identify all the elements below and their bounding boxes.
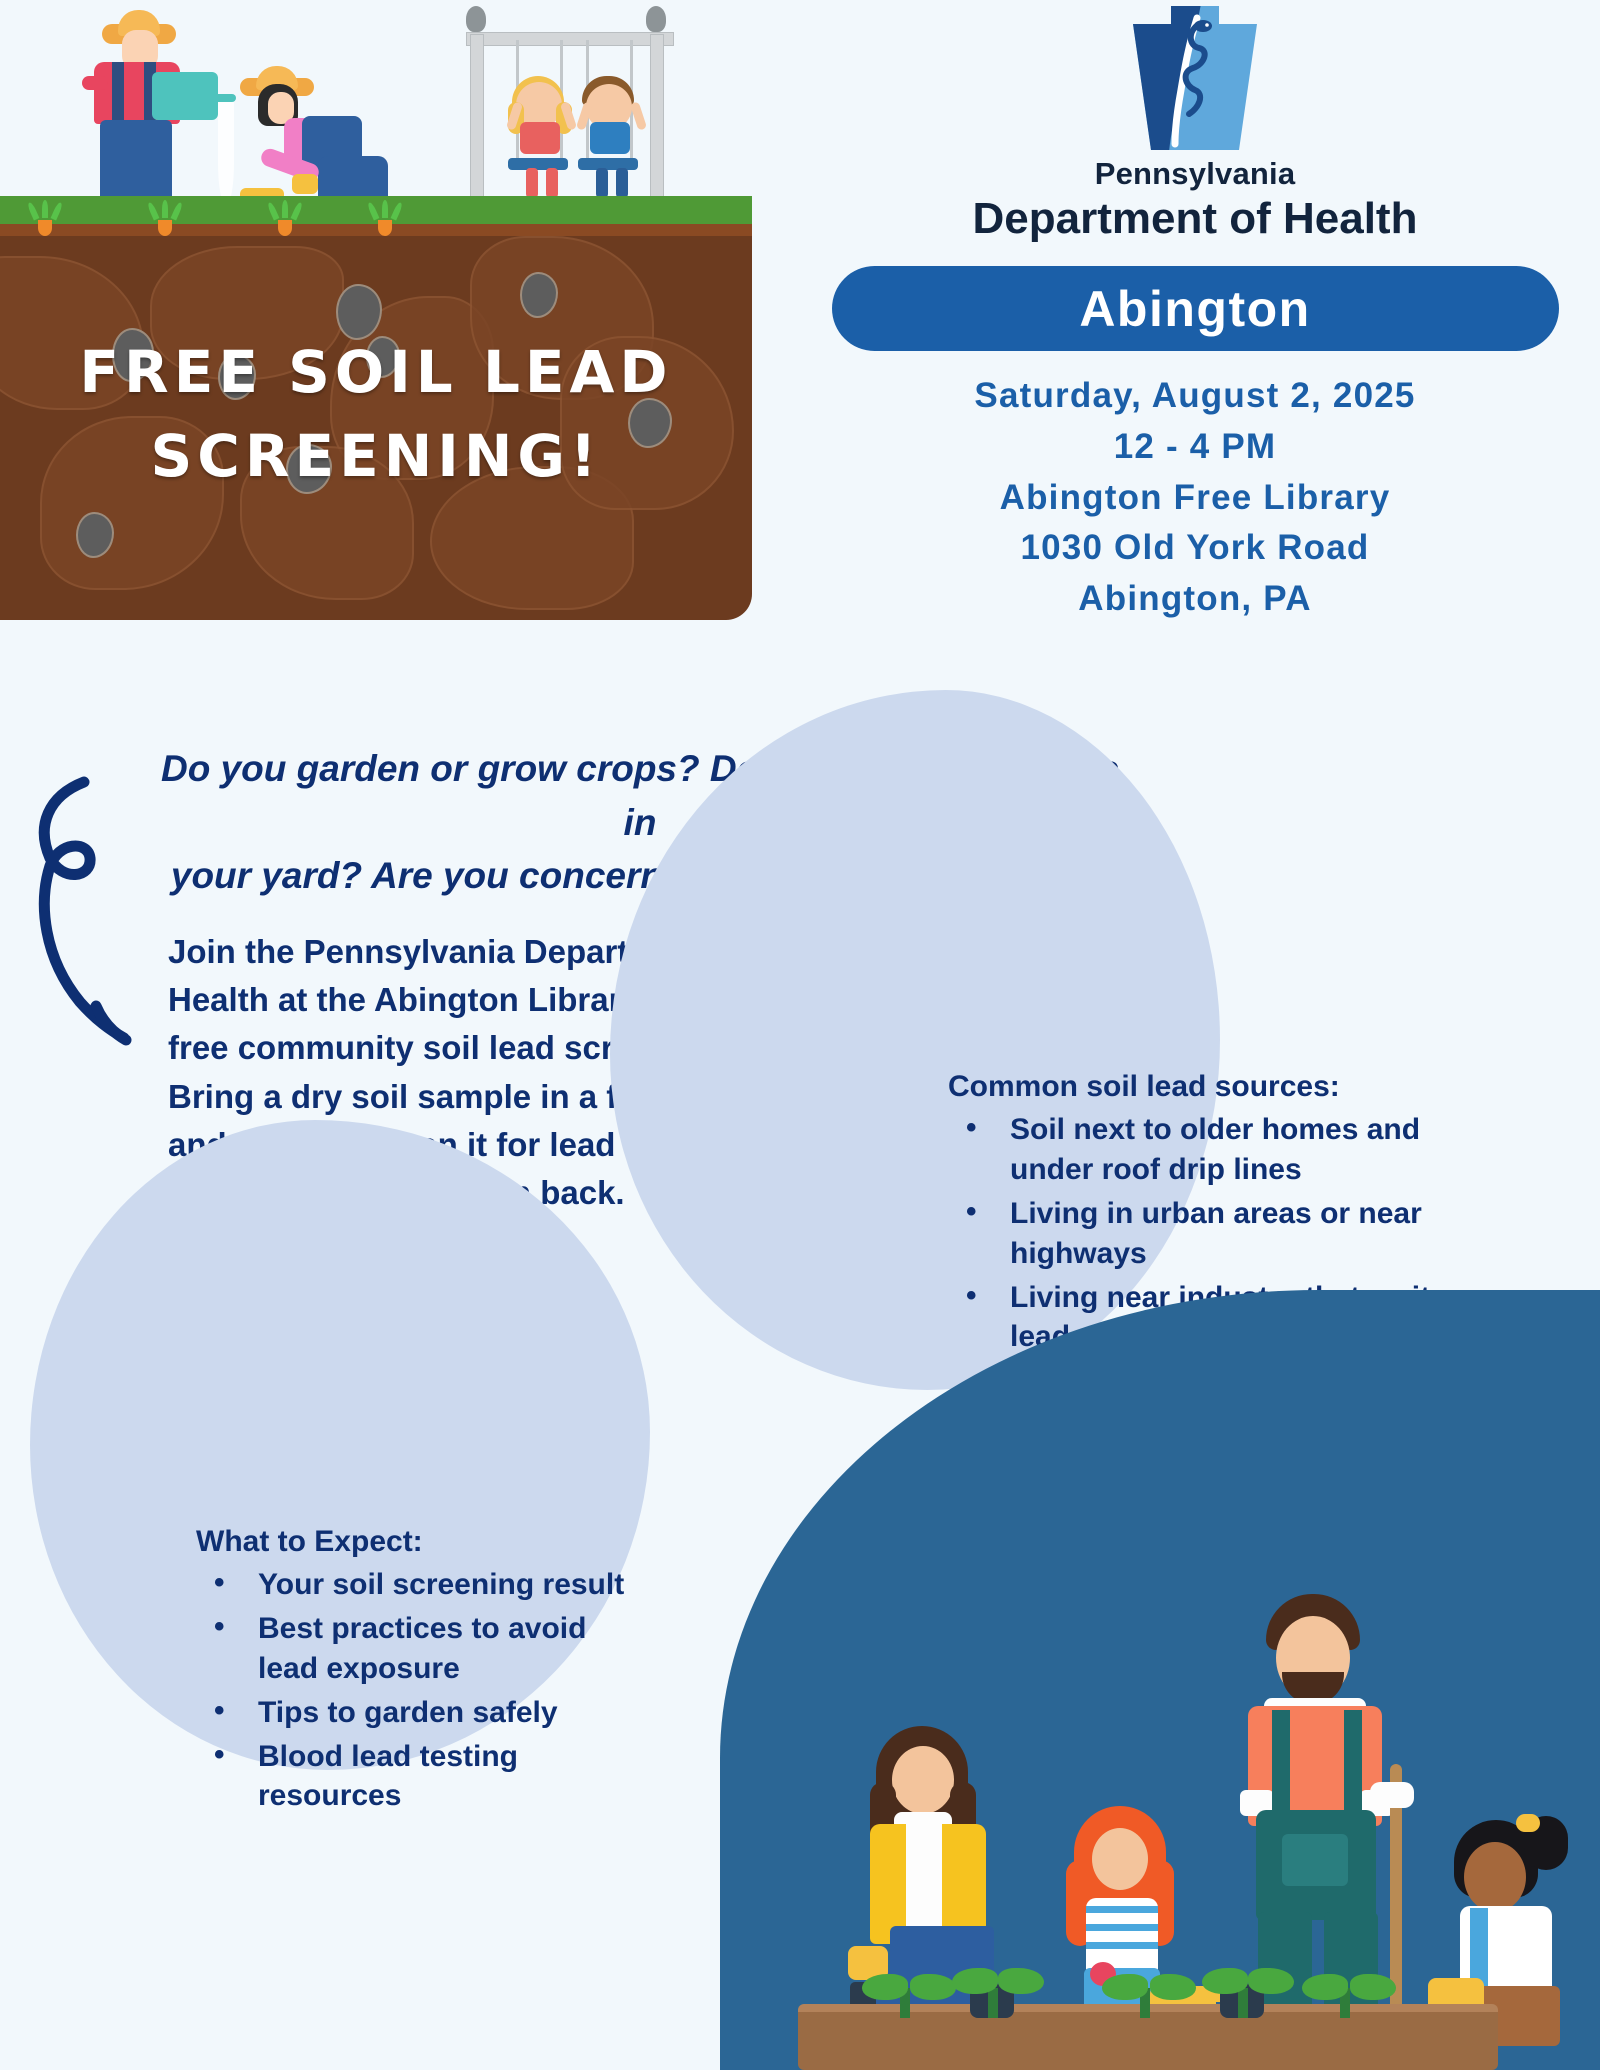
expect-blob-title: What to Expect: (196, 1525, 636, 1559)
expect-blob-list: Your soil screening result Best practice… (196, 1565, 636, 1816)
poster-headline: FREE SOIL LEAD SCREENING! (0, 330, 752, 498)
brand-header: Pennsylvania Department of Health Abingt… (790, 0, 1600, 625)
brand-department-name: Department of Health (790, 194, 1600, 244)
event-date: Saturday, August 2, 2025 (790, 371, 1600, 422)
sources-blob-title: Common soil lead sources: (948, 1070, 1448, 1104)
poster-headline-line1: FREE SOIL LEAD (0, 330, 752, 414)
poster-headline-line2: SCREENING! (0, 414, 752, 498)
location-badge-label: Abington (1079, 280, 1310, 338)
list-item: Soil next to older homes and under roof … (948, 1110, 1448, 1190)
event-city-state: Abington, PA (790, 574, 1600, 625)
event-venue: Abington Free Library (790, 473, 1600, 524)
flyer-page: FREE SOIL LEAD SCREENING! (0, 0, 1600, 2070)
location-badge: Abington (832, 266, 1559, 351)
brand-state-name: Pennsylvania (790, 156, 1600, 192)
planted-row (20, 196, 440, 236)
list-item: Living in urban areas or near highways (948, 1194, 1448, 1274)
soil-illustration-card: FREE SOIL LEAD SCREENING! (0, 0, 752, 620)
gardener-kneeling-figure (226, 70, 396, 210)
gardener-watering-figure (60, 10, 240, 210)
expect-blob-content: What to Expect: Your soil screening resu… (196, 1525, 636, 1820)
event-street: 1030 Old York Road (790, 523, 1600, 574)
list-item: Your soil screening result (196, 1565, 636, 1605)
list-item: Tips to garden safely (196, 1693, 636, 1733)
list-item: Blood lead testing resources (196, 1737, 636, 1817)
pa-keystone-caduceus-icon (790, 0, 1600, 152)
event-details: Saturday, August 2, 2025 12 - 4 PM Abing… (790, 371, 1600, 625)
family-illustration (720, 1290, 1600, 2070)
event-time: 12 - 4 PM (790, 422, 1600, 473)
curly-arrow-icon (14, 762, 184, 1062)
list-item: Best practices to avoid lead exposure (196, 1609, 636, 1689)
